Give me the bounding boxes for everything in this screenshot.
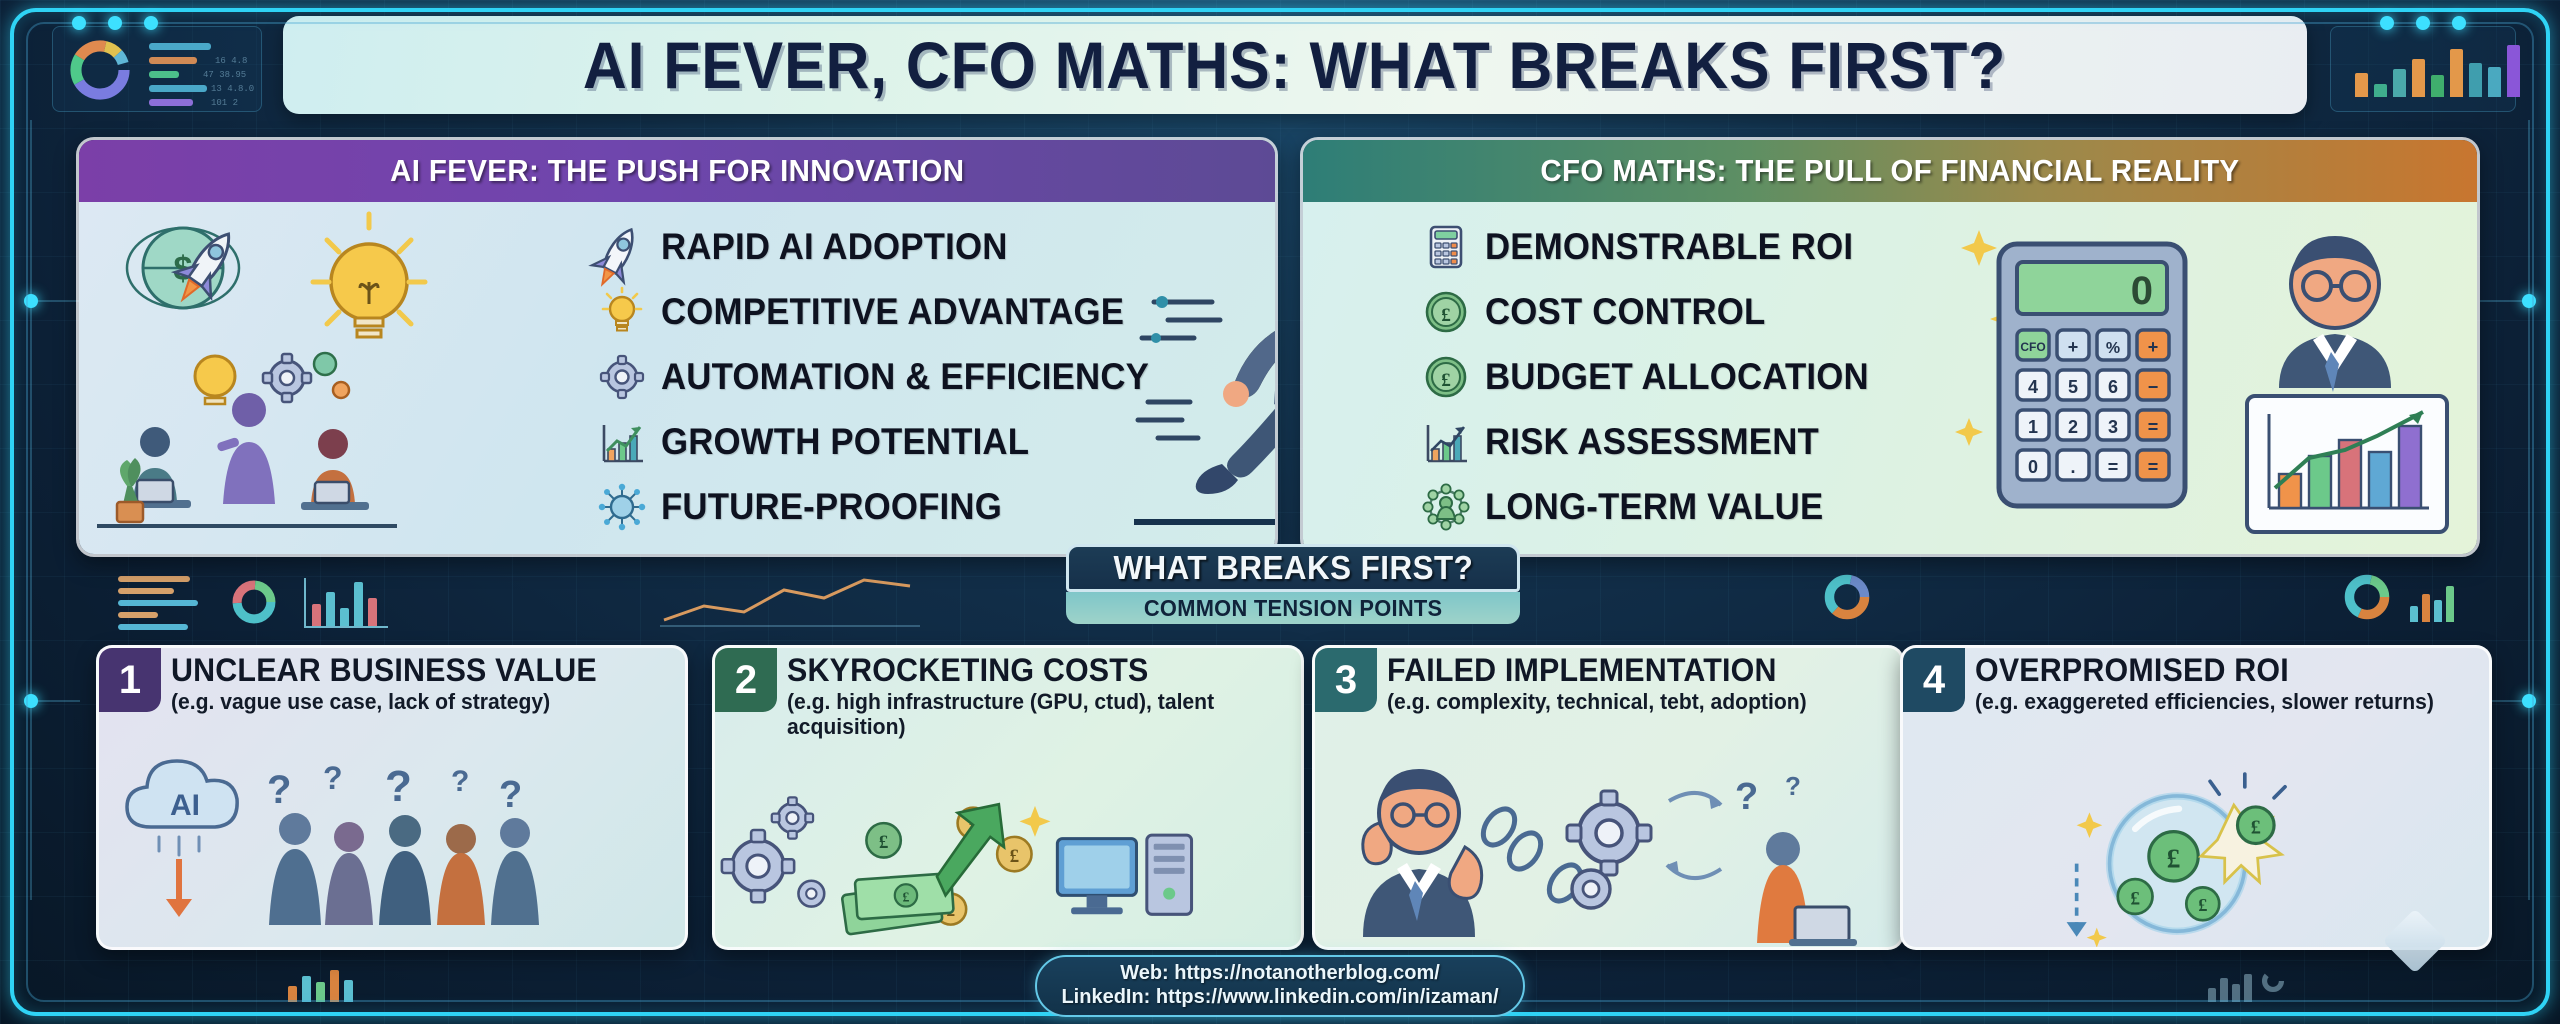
panel-ai-fever: AI FEVER: THE PUSH FOR INNOVATION $	[76, 137, 1278, 557]
svg-text:0: 0	[2028, 457, 2038, 477]
svg-text:0: 0	[2131, 269, 2153, 313]
svg-text:£: £	[2198, 895, 2207, 915]
decor-stat-text: 13 4.8.0	[211, 84, 254, 94]
list-item[interactable]: DEMONSTRABLE ROI	[1423, 216, 1893, 278]
decor-midband-sparkline	[660, 572, 920, 628]
what-breaks-first-badge: WHAT BREAKS FIRST? COMMON TENSION POINTS	[1066, 544, 1520, 624]
badge-subtitle: COMMON TENSION POINTS	[1144, 595, 1443, 622]
decor-bar	[2220, 978, 2228, 1002]
list-item[interactable]: COMPETITIVE ADVANTAGE	[599, 281, 1180, 343]
overpromised-roi-illustration: £ £ £ £	[1903, 785, 2444, 950]
svg-text:?: ?	[1735, 776, 1758, 818]
decor-bar	[149, 57, 197, 64]
list-item[interactable]: RAPID AI ADOPTION	[599, 216, 1180, 278]
decor-bar	[2422, 594, 2430, 622]
badge-title-bar: WHAT BREAKS FIRST?	[1066, 544, 1520, 592]
ai-fever-item-list: RAPID AI ADOPTION	[599, 216, 1180, 538]
decor-bar	[2469, 63, 2482, 97]
panel-cfo-maths: CFO MATHS: THE PULL OF FINANCIAL REALITY	[1300, 137, 2480, 557]
tension-card-1[interactable]: 1 UNCLEAR BUSINESS VALUE (e.g. vague use…	[96, 645, 688, 950]
decor-bar	[288, 986, 297, 1002]
line-chart-decoration	[660, 572, 920, 628]
panel-cfo-maths-header-text: CFO MATHS: THE PULL OF FINANCIAL REALITY	[1540, 153, 2239, 189]
decor-bar	[2412, 59, 2425, 97]
footer-linkedin-url[interactable]: LinkedIn: https://www.linkedin.com/in/iz…	[1061, 986, 1498, 1010]
circuit-trace	[30, 120, 32, 900]
decor-bottom-left-bars	[288, 962, 368, 1002]
tension-card-number: 4	[1903, 648, 1965, 712]
network-node-icon	[599, 484, 645, 530]
tension-card-subtitle: (e.g. vague use case, lack of strategy)	[171, 690, 655, 715]
panel-ai-fever-header-text: AI FEVER: THE PUSH FOR INNOVATION	[390, 153, 964, 189]
decor-bar	[118, 624, 188, 630]
svg-text:£: £	[2167, 843, 2181, 873]
tension-card-title: FAILED IMPLEMENTATION	[1387, 652, 1868, 689]
decor-bar	[118, 576, 190, 582]
frame-corner-dot	[108, 16, 122, 30]
growth-chart-icon	[599, 419, 645, 465]
ai-innovation-illustration: $	[97, 204, 567, 557]
decor-bar	[2208, 988, 2216, 1002]
decor-bar	[326, 592, 335, 626]
svg-text:=: =	[2148, 417, 2159, 437]
svg-text:1: 1	[2028, 417, 2038, 437]
decor-bar	[2232, 984, 2240, 1002]
decor-bar	[354, 582, 363, 626]
decor-bar	[149, 85, 207, 92]
skyrocketing-costs-illustration: £ £ £ £ £	[715, 787, 1224, 947]
tension-card-title: UNCLEAR BUSINESS VALUE	[171, 652, 652, 689]
list-item-label: DEMONSTRABLE ROI	[1485, 226, 1853, 268]
list-item-label: AUTOMATION & EFFICIENCY	[661, 356, 1149, 398]
decor-barchart-topright	[2330, 26, 2516, 112]
circuit-node-dot	[2522, 694, 2536, 708]
decor-bar	[2374, 84, 2387, 97]
list-item[interactable]: £ COST CONTROL	[1423, 281, 1893, 343]
list-item[interactable]: AUTOMATION & EFFICIENCY	[599, 346, 1180, 408]
tension-card-subtitle: (e.g. complexity, technical, tebt, adopt…	[1387, 690, 1871, 715]
donut-chart-decoration	[228, 576, 280, 628]
badge-subtitle-bar: COMMON TENSION POINTS	[1066, 592, 1520, 624]
decor-bar	[2393, 69, 2406, 97]
running-businessman-illustration	[1134, 202, 1278, 557]
rocket-icon	[599, 224, 645, 270]
decor-bar	[118, 588, 174, 594]
decor-midband-right	[1820, 566, 2460, 630]
svg-text:6: 6	[2108, 377, 2118, 397]
tension-card-number: 2	[715, 648, 777, 712]
cfo-finance-illustration: 0 CFO + %	[1961, 208, 2471, 548]
donut-chart-decoration	[1820, 570, 1874, 624]
footer-web-url[interactable]: Web: https://notanotherblog.com/	[1120, 962, 1440, 986]
svg-text:£: £	[903, 889, 910, 904]
frame-corner-dot	[2380, 16, 2394, 30]
gear-people-icon	[1423, 484, 1469, 530]
decor-midband-left	[108, 572, 448, 632]
tension-card-2[interactable]: 2 SKYROCKETING COSTS (e.g. high infrastr…	[712, 645, 1304, 950]
tension-card-4[interactable]: 4 OVERPROMISED ROI (e.g. exaggereted eff…	[1900, 645, 2492, 950]
decor-bar	[118, 600, 198, 606]
tension-card-subtitle: (e.g. high infrastructure (GPU, ctud), t…	[787, 690, 1271, 739]
svg-text:£: £	[2251, 816, 2261, 838]
frame-corner-dot	[2452, 16, 2466, 30]
decor-bar	[2488, 67, 2501, 97]
svg-text:?: ?	[385, 762, 412, 811]
decor-bar	[330, 970, 339, 1002]
decor-stat-text: 16 4.8	[215, 56, 247, 66]
svg-text:?: ?	[323, 760, 343, 796]
infographic-title-bar: AI FEVER, CFO MATHS: WHAT BREAKS FIRST?	[283, 16, 2307, 114]
lightbulb-icon	[599, 289, 645, 335]
circuit-trace	[2528, 120, 2530, 900]
decor-dashboard-topleft: 16 4.8 47 38.95 13 4.8.0 101 2	[52, 26, 262, 112]
frame-corner-dot	[2416, 16, 2430, 30]
svg-text:4: 4	[2028, 377, 2038, 397]
unclear-value-illustration: AI ? ? ? ? ?	[99, 757, 688, 943]
svg-text:?: ?	[1785, 771, 1801, 801]
decor-bar	[302, 976, 311, 1002]
svg-text:?: ?	[267, 768, 291, 812]
circuit-node-dot	[2522, 294, 2536, 308]
circuit-node-dot	[24, 294, 38, 308]
decor-bar	[149, 99, 193, 106]
frame-corner-dot	[144, 16, 158, 30]
failed-implementation-illustration: ? ?	[1315, 757, 1904, 943]
svg-text:£: £	[1441, 370, 1451, 391]
tension-card-number: 3	[1315, 648, 1377, 712]
panel-ai-fever-header: AI FEVER: THE PUSH FOR INNOVATION	[79, 140, 1275, 202]
decor-bar	[316, 982, 325, 1002]
svg-text:.: .	[2070, 457, 2075, 477]
decor-bar	[2244, 974, 2252, 1002]
frame-corner-dot	[72, 16, 86, 30]
decor-bar	[368, 598, 377, 626]
svg-text:£: £	[879, 832, 888, 853]
panel-cfo-maths-header: CFO MATHS: THE PULL OF FINANCIAL REALITY	[1303, 140, 2477, 202]
list-item[interactable]: GROWTH POTENTIAL	[599, 411, 1180, 473]
svg-text:%: %	[2106, 340, 2120, 357]
badge-title: WHAT BREAKS FIRST?	[1113, 549, 1473, 587]
tension-card-title: SKYROCKETING COSTS	[787, 652, 1268, 689]
donut-chart-decoration	[63, 33, 137, 107]
svg-text:3: 3	[2108, 417, 2118, 437]
decor-bar	[2446, 586, 2454, 622]
footer-contact-pill[interactable]: Web: https://notanotherblog.com/ LinkedI…	[1035, 955, 1525, 1017]
decor-bar	[2410, 606, 2418, 622]
decor-bar	[344, 980, 353, 1002]
list-item-label: COST CONTROL	[1485, 291, 1765, 333]
tension-card-subtitle: (e.g. exaggereted efficiencies, slower r…	[1975, 690, 2459, 715]
pound-coin-icon: £	[1423, 289, 1469, 335]
decor-bar	[2507, 45, 2520, 97]
list-item[interactable]: FUTURE-PROOFING	[599, 476, 1180, 538]
svg-text:£: £	[1441, 305, 1451, 326]
svg-text:CFO: CFO	[2020, 340, 2045, 354]
list-item[interactable]: £ BUDGET ALLOCATION	[1423, 346, 1893, 408]
list-item-label: FUTURE-PROOFING	[661, 486, 1002, 528]
bar-chart-icon	[1423, 419, 1469, 465]
svg-text:+: +	[2148, 337, 2159, 357]
svg-text:?: ?	[451, 765, 469, 798]
panel-ai-fever-body: $	[79, 202, 1275, 554]
list-item[interactable]: LONG-TERM VALUE	[1423, 476, 1893, 538]
pound-coin-icon: £	[1423, 354, 1469, 400]
tension-card-number: 1	[99, 648, 161, 712]
decor-bar	[312, 604, 321, 626]
donut-chart-decoration	[2340, 570, 2394, 624]
decor-stat-text: 101 2	[211, 98, 238, 108]
page-title: AI FEVER, CFO MATHS: WHAT BREAKS FIRST?	[583, 27, 2006, 103]
decor-bar	[118, 612, 158, 618]
circuit-node-dot	[24, 694, 38, 708]
list-item-label: BUDGET ALLOCATION	[1485, 356, 1869, 398]
list-item-label: GROWTH POTENTIAL	[661, 421, 1029, 463]
decor-bar	[2431, 75, 2444, 97]
svg-text:£: £	[2130, 889, 2140, 910]
decor-bar	[2434, 600, 2442, 622]
decor-bar	[2355, 73, 2368, 97]
svg-text:=: =	[2148, 457, 2159, 477]
tension-card-3[interactable]: 3 FAILED IMPLEMENTATION (e.g. complexity…	[1312, 645, 1904, 950]
svg-text:2: 2	[2068, 417, 2078, 437]
svg-text:5: 5	[2068, 377, 2078, 397]
decor-bar	[2450, 49, 2463, 97]
calculator-icon	[1423, 224, 1469, 270]
list-item[interactable]: RISK ASSESSMENT	[1423, 411, 1893, 473]
decor-bottom-right-bars	[2208, 962, 2288, 1002]
list-item-label: LONG-TERM VALUE	[1485, 486, 1823, 528]
donut-chart-decoration	[2260, 968, 2286, 994]
svg-text:−: −	[2148, 377, 2159, 397]
decor-stat-text: 47 38.95	[203, 70, 246, 80]
decor-bar	[149, 71, 179, 78]
svg-text:AI: AI	[170, 789, 200, 822]
list-item-label: RAPID AI ADOPTION	[661, 226, 1008, 268]
cfo-maths-item-list: DEMONSTRABLE ROI £ COST CONTROL	[1423, 216, 1893, 538]
gear-icon	[599, 354, 645, 400]
svg-text:?: ?	[499, 774, 522, 816]
panel-cfo-maths-body: DEMONSTRABLE ROI £ COST CONTROL	[1303, 202, 2477, 554]
svg-text:£: £	[1010, 846, 1019, 867]
svg-text:=: =	[2108, 457, 2119, 477]
decor-bar	[149, 43, 211, 50]
list-item-label: RISK ASSESSMENT	[1485, 421, 1819, 463]
tension-card-title: OVERPROMISED ROI	[1975, 652, 2456, 689]
svg-text:+: +	[2068, 337, 2079, 357]
decor-bar	[340, 608, 349, 626]
list-item-label: COMPETITIVE ADVANTAGE	[661, 291, 1124, 333]
